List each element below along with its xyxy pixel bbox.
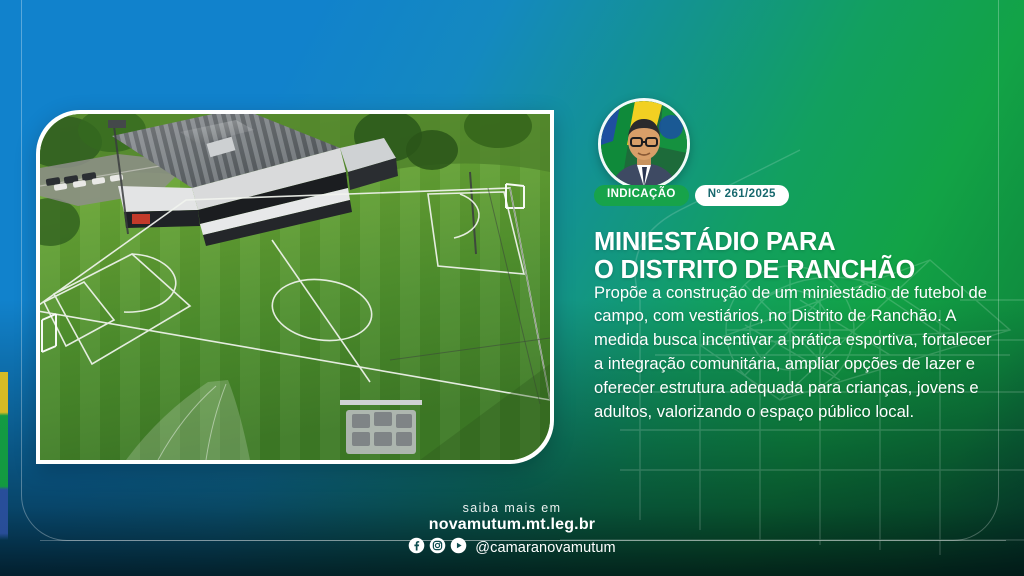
description-text: Propõe a construção de um miniestádio de… — [594, 281, 1000, 424]
footer-social-row: @camaranovamutum — [0, 537, 1024, 558]
title-line-1: MINIESTÁDIO PARA — [594, 229, 994, 257]
badge-row: INDICAÇÃO Nº 261/2025 — [594, 185, 789, 206]
footer-handle[interactable]: @camaranovamutum — [475, 540, 615, 556]
youtube-icon[interactable] — [450, 537, 467, 558]
announcement-card: INDICAÇÃO Nº 261/2025 MINIESTÁDIO PARA O… — [0, 0, 1024, 576]
facebook-icon[interactable] — [408, 537, 425, 558]
footer-call-to-action: saiba mais em — [0, 501, 1024, 515]
aerial-photo-football-field — [40, 114, 550, 460]
badge-type: INDICAÇÃO — [594, 185, 689, 206]
badge-number: Nº 261/2025 — [695, 185, 789, 206]
instagram-icon[interactable] — [429, 537, 446, 558]
footer: saiba mais em novamutum.mt.leg.br — [0, 501, 1024, 558]
page-title: MINIESTÁDIO PARA O DISTRITO DE RANCHÃO — [594, 229, 994, 284]
photo-frame — [36, 110, 554, 464]
footer-website[interactable]: novamutum.mt.leg.br — [0, 516, 1024, 534]
vereador-avatar — [598, 98, 690, 190]
